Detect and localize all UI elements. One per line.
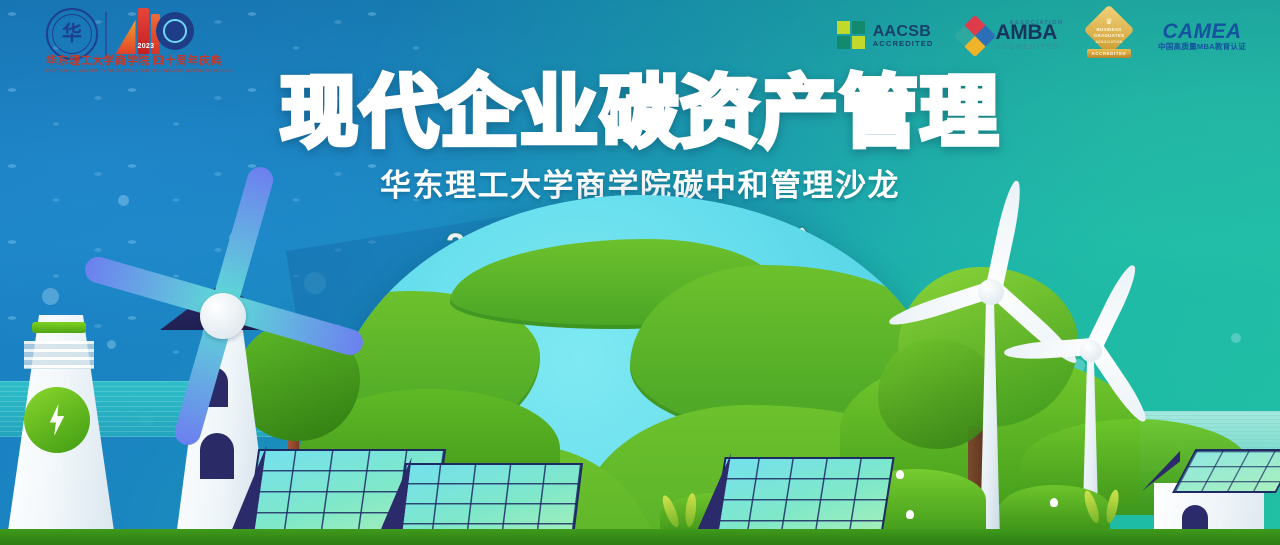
promo-banner: 华 2023 华东理工大学商学院 四十周年庆典 EAST CHINA UNIVE… xyxy=(0,0,1280,545)
header-bar: 华 2023 华东理工大学商学院 四十周年庆典 EAST CHINA UNIVE… xyxy=(0,0,1280,72)
logo-divider xyxy=(105,12,107,56)
windmill-door xyxy=(200,433,234,479)
anniversary-year: 2023 xyxy=(138,43,155,50)
camea-label: CAMEA xyxy=(1158,20,1246,43)
aacsb-label: AACSB xyxy=(873,24,934,41)
accreditation-aacsb[interactable]: AACSB ACCREDITED xyxy=(837,21,934,51)
ground-strip xyxy=(0,529,1280,545)
bga-line1: BUSINESS xyxy=(1096,27,1121,33)
flower-icon xyxy=(896,470,904,479)
solar-roof-icon xyxy=(1172,449,1280,493)
anniversary-fan-shape xyxy=(116,20,136,54)
cooling-tower-stripes xyxy=(24,341,94,369)
crown-icon: ♛ xyxy=(1105,18,1112,26)
turbine-hub xyxy=(1080,340,1102,362)
seal-glyph: 华 xyxy=(62,24,82,44)
camea-sublabel: 中国高质量MBA教育认证 xyxy=(1158,43,1246,51)
accreditation-amba[interactable]: ASSOCIATION AMBA ACCREDITED xyxy=(960,21,1060,51)
bga-line2: GRADUATES xyxy=(1094,33,1125,39)
amba-diamond-icon xyxy=(953,15,995,57)
page-title: 现代企业碳资产管理 xyxy=(0,74,1280,152)
turbine-hub xyxy=(978,279,1004,305)
cooling-tower-rim xyxy=(32,322,86,333)
aacsb-sublabel: ACCREDITED xyxy=(873,40,934,48)
lightning-bolt-icon xyxy=(24,387,90,453)
windmill-hub xyxy=(200,293,246,339)
accreditation-badges: AACSB ACCREDITED ASSOCIATION AMBA ACCRED… xyxy=(837,10,1246,62)
illustration-scene xyxy=(0,215,1280,545)
bga-ribbon-label: ACCREDITED xyxy=(1092,51,1127,56)
bga-line3: ASSOCIATION xyxy=(1096,40,1123,44)
amba-sublabel: ACCREDITED xyxy=(996,43,1060,50)
flower-icon xyxy=(1050,498,1058,507)
university-name-en: EAST CHINA UNIVERSITY OF SCIENCE AND TEC… xyxy=(46,68,186,73)
accreditation-bga[interactable]: ♛ BUSINESS GRADUATES ASSOCIATION ACCREDI… xyxy=(1086,10,1132,62)
university-logo-text: 华东理工大学商学院 四十周年庆典 EAST CHINA UNIVERSITY O… xyxy=(46,52,186,73)
university-name-cn: 华东理工大学商学院 四十周年庆典 xyxy=(46,52,186,68)
accreditation-camea[interactable]: CAMEA 中国高质量MBA教育认证 xyxy=(1158,20,1246,51)
anniversary-ring-icon xyxy=(156,12,194,50)
bga-ribbon: ACCREDITED xyxy=(1087,49,1131,58)
aacsb-blocks-icon xyxy=(837,21,867,51)
amba-assoc-label: ASSOCIATION xyxy=(1010,21,1064,27)
flower-icon xyxy=(906,510,914,519)
